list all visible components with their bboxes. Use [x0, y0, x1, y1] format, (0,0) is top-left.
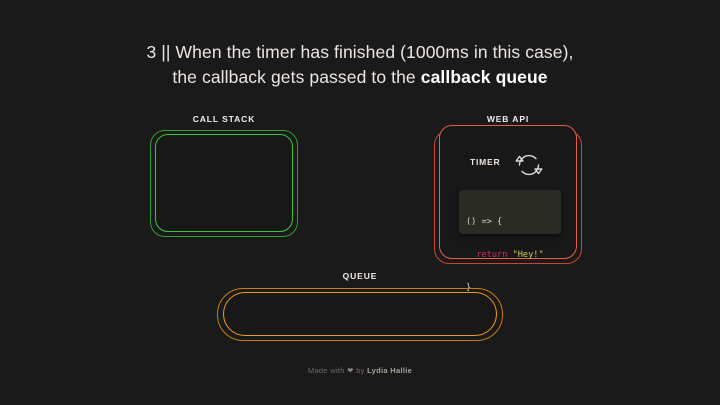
- slide-canvas: 3 || When the timer has finished (1000ms…: [0, 0, 720, 405]
- call-stack-panel[interactable]: [155, 134, 293, 232]
- timer-callback-code: () => { return "Hey!" }: [459, 190, 561, 234]
- slide-title-line-1: 3 || When the timer has finished (1000ms…: [60, 40, 660, 65]
- footer-by: by: [356, 366, 365, 375]
- code-token-arrow-open: () => {: [466, 217, 502, 227]
- refresh-sync-icon: [512, 148, 546, 182]
- code-token-return: return: [476, 250, 507, 260]
- queue-panel[interactable]: [223, 292, 497, 336]
- slide-title-emphasis: callback queue: [421, 67, 548, 87]
- slide-title-line-2: the callback gets passed to the callback…: [60, 65, 660, 90]
- slide-title: 3 || When the timer has finished (1000ms…: [60, 40, 660, 90]
- code-line-2: return "Hey!": [466, 250, 554, 261]
- web-api-label: WEB API: [434, 114, 582, 124]
- call-stack-label: CALL STACK: [150, 114, 298, 124]
- footer-made-with: Made with: [308, 366, 345, 375]
- footer-author: Lydia Hallie: [367, 366, 412, 375]
- timer-label: TIMER: [470, 157, 500, 167]
- footer: Made with ❤ by Lydia Hallie: [0, 366, 720, 375]
- slide-title-line-2-prefix: the callback gets passed to the: [172, 67, 420, 87]
- queue-label: QUEUE: [217, 271, 503, 281]
- code-line-1: () => {: [466, 217, 554, 228]
- heart-icon: ❤: [347, 366, 354, 375]
- timer-entry: TIMER: [470, 148, 570, 182]
- code-token-string: "Hey!": [513, 250, 544, 260]
